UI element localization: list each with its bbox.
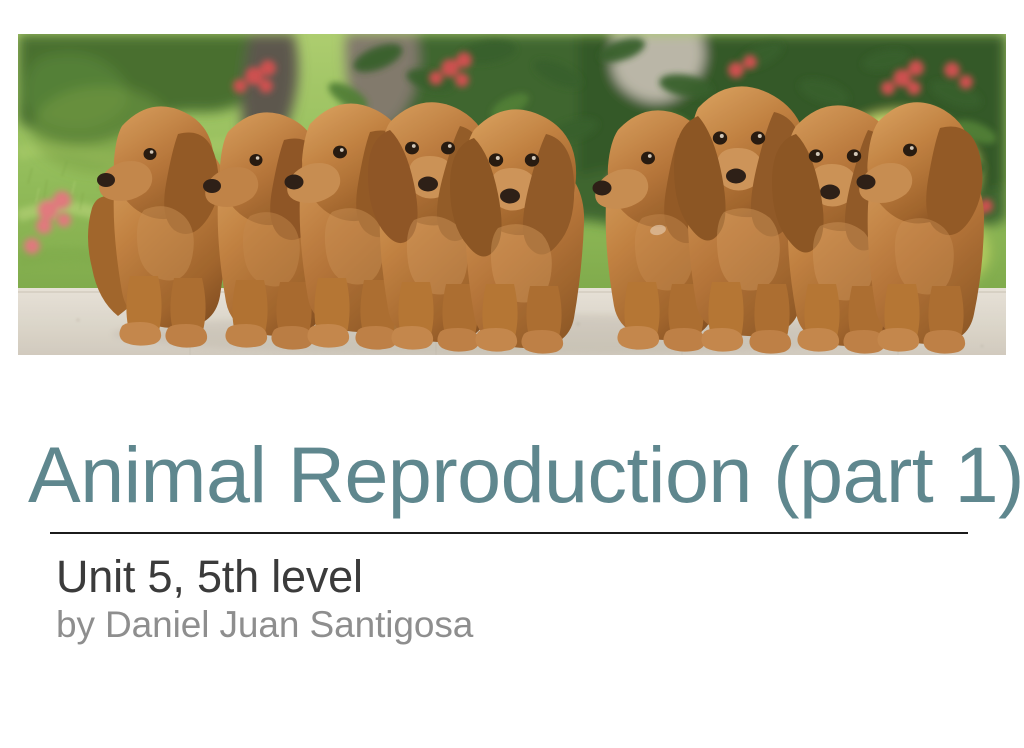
page-title: Animal Reproduction (part 1) — [0, 432, 1024, 518]
subtitle-unit: Unit 5, 5th level — [56, 552, 956, 602]
subtitle-block: Unit 5, 5th level by Daniel Juan Santigo… — [56, 552, 956, 646]
photo-artwork — [18, 34, 1006, 355]
slide-canvas: Animal Reproduction (part 1) Unit 5, 5th… — [0, 0, 1024, 748]
subtitle-author: by Daniel Juan Santigosa — [56, 602, 956, 646]
title-block: Animal Reproduction (part 1) — [0, 432, 1024, 518]
irish-setter-puppies-photo — [18, 34, 1006, 355]
title-underline-rule — [50, 532, 968, 534]
